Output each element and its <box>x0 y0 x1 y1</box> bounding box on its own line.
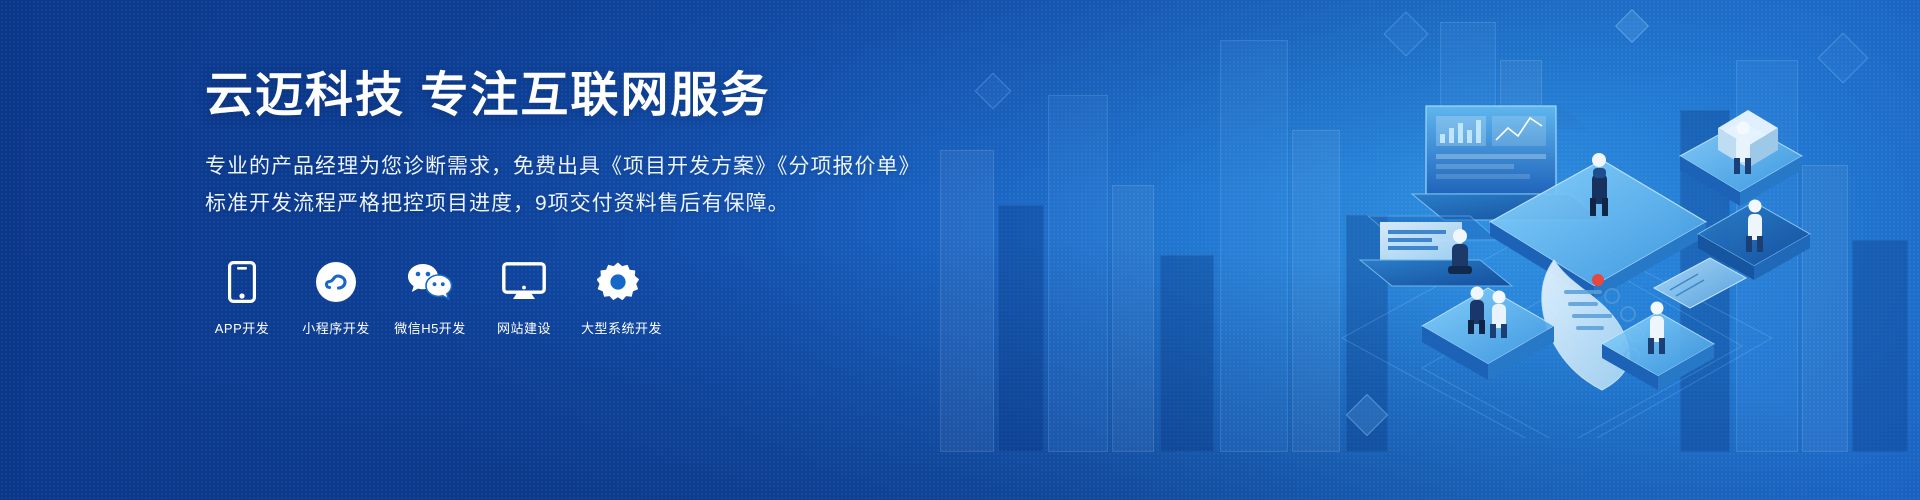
service-item-wechat-h5[interactable]: 微信H5开发 <box>393 260 467 337</box>
promo-banner: 云迈科技 专注互联网服务 专业的产品经理为您诊断需求，免费出具《项目开发方案》《… <box>0 0 1920 500</box>
subtitle-line-1: 专业的产品经理为您诊断需求，免费出具《项目开发方案》《分项报价单》 <box>205 149 965 186</box>
service-label: 网站建设 <box>487 318 561 337</box>
service-label: 小程序开发 <box>299 318 373 337</box>
mobile-phone-icon <box>205 260 279 304</box>
subtitle-block: 专业的产品经理为您诊断需求，免费出具《项目开发方案》《分项报价单》 标准开发流程… <box>205 149 965 223</box>
banner-content: 云迈科技 专注互联网服务 专业的产品经理为您诊断需求，免费出具《项目开发方案》《… <box>205 70 965 337</box>
mini-program-icon <box>299 260 373 304</box>
service-label: APP开发 <box>205 318 279 337</box>
service-item-website[interactable]: 网站建设 <box>487 260 561 337</box>
subtitle-line-2: 标准开发流程严格把控项目进度，9项交付资料售后有保障。 <box>205 186 965 223</box>
service-label: 大型系统开发 <box>581 318 655 337</box>
isometric-illustration <box>1302 8 1862 438</box>
service-item-enterprise-system[interactable]: 大型系统开发 <box>581 260 655 337</box>
service-label: 微信H5开发 <box>393 318 467 337</box>
service-item-mini-program[interactable]: 小程序开发 <box>299 260 373 337</box>
page-title: 云迈科技 专注互联网服务 <box>205 70 965 123</box>
wechat-icon <box>393 260 467 304</box>
service-item-app[interactable]: APP开发 <box>205 260 279 337</box>
monitor-icon <box>487 260 561 304</box>
service-list: APP开发 小程序开发 <box>205 260 965 337</box>
gear-icon <box>581 260 655 304</box>
